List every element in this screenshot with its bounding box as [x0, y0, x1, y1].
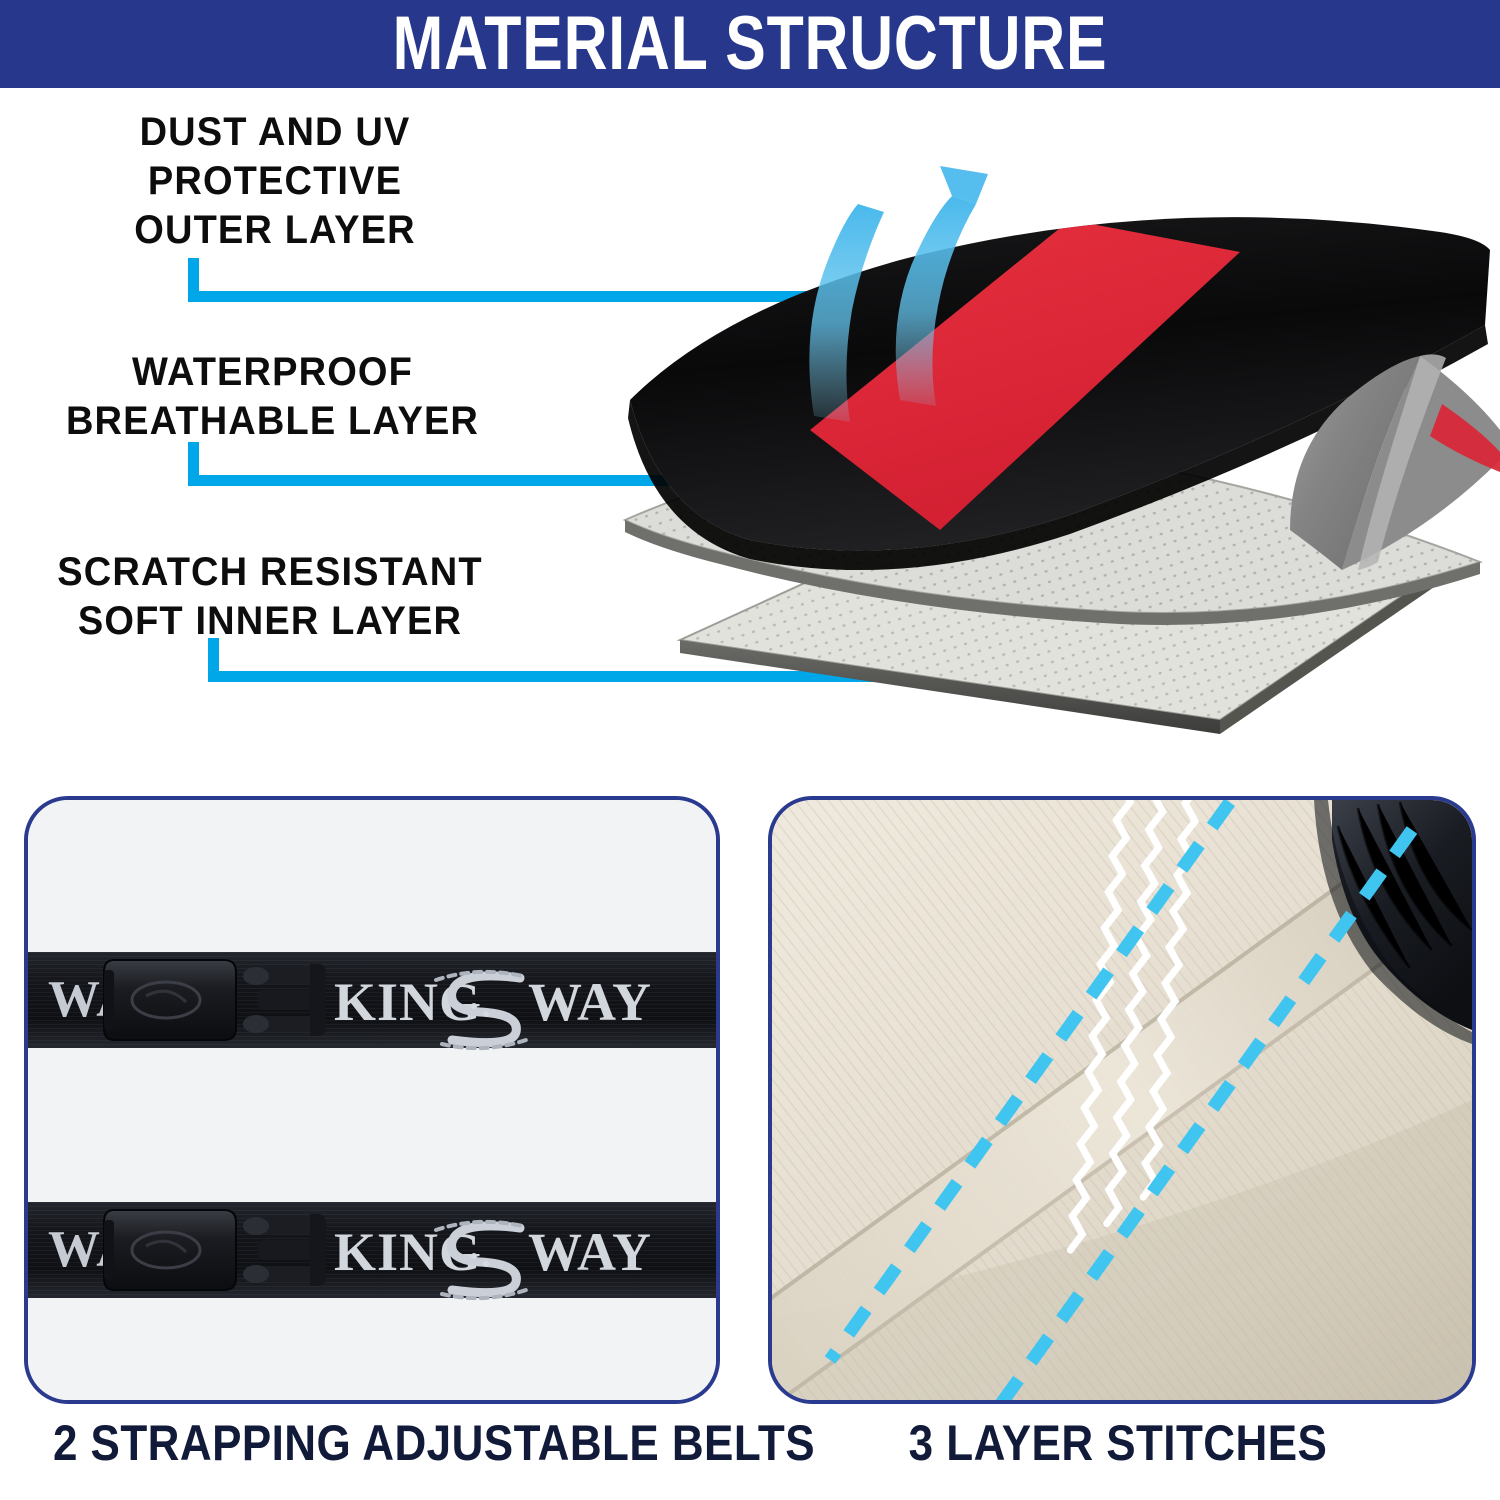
- strap-row: WA: [28, 952, 716, 1048]
- layer-label-outer: DUST AND UV PROTECTIVE OUTER LAYER: [14, 108, 537, 254]
- layer-label-middle-line-1: WATERPROOF: [14, 348, 532, 397]
- buckle-housing: [104, 1210, 236, 1290]
- layer-label-outer-line-3: OUTER LAYER: [14, 206, 537, 255]
- caption-stitches: 3 LAYER STITCHES: [810, 1414, 1426, 1472]
- strap-row: WA KING: [28, 1202, 716, 1298]
- stitches-image: [772, 800, 1472, 1400]
- layer-label-inner-line-2: SOFT INNER LAYER: [14, 597, 527, 646]
- layer-label-outer-line-2: PROTECTIVE: [14, 157, 537, 206]
- layer-label-inner: SCRATCH RESISTANT SOFT INNER LAYER: [14, 548, 527, 646]
- strap-brand-text-2: WAY: [528, 1222, 652, 1282]
- sheet-outer-layer: [628, 217, 1500, 570]
- layer-label-middle: WATERPROOF BREATHABLE LAYER: [14, 348, 532, 446]
- caption-belts: 2 STRAPPING ADJUSTABLE BELTS: [53, 1414, 683, 1472]
- strap-brand-text-2: WAY: [528, 972, 652, 1032]
- infographic-page: MATERIAL STRUCTURE DUST AND UV PROTECTIV…: [0, 0, 1500, 1500]
- material-layers-illustration: [600, 100, 1500, 760]
- layer-label-middle-line-2: BREATHABLE LAYER: [14, 397, 532, 446]
- airflow-arrow-head: [940, 166, 988, 204]
- buckle-housing: [104, 960, 236, 1040]
- layer-label-inner-line-1: SCRATCH RESISTANT: [14, 548, 527, 597]
- header-banner: MATERIAL STRUCTURE: [0, 0, 1500, 88]
- feature-panel-belts: WA: [24, 796, 720, 1404]
- layer-label-outer-line-1: DUST AND UV: [14, 108, 537, 157]
- page-title: MATERIAL STRUCTURE: [150, 0, 1350, 88]
- feature-panel-stitches: [768, 796, 1476, 1404]
- belts-image: WA: [28, 800, 716, 1400]
